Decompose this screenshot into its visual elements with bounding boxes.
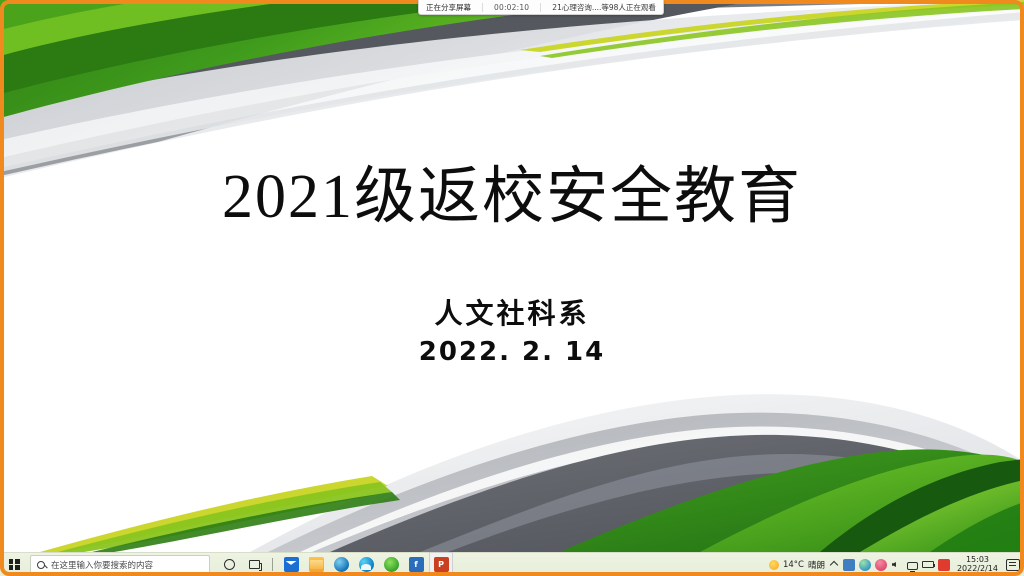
screen-share-banner[interactable]: 正在分享屏幕 00:02:10 21心理咨询....等98人正在观看	[418, 0, 664, 15]
show-hidden-icons-chevron[interactable]	[830, 560, 838, 568]
mail-icon[interactable]	[280, 553, 302, 576]
file-explorer-icon[interactable]	[305, 553, 327, 576]
slide-date: 2022. 2. 14	[419, 337, 606, 367]
powerpoint-icon[interactable]: P	[430, 553, 452, 576]
search-input[interactable]: 在这里输入你要搜索的内容	[30, 555, 210, 574]
taskbar-icon-group: f P	[218, 553, 452, 576]
slide-subtitle-block: 人文社科系 2022. 2. 14	[419, 296, 606, 367]
task-view-icon[interactable]	[243, 553, 265, 576]
clock-date: 2022/2/14	[957, 565, 998, 574]
system-tray: 14°C 晴朗 15:03 2022/2/14	[769, 553, 1024, 576]
network-status-icon[interactable]	[907, 562, 918, 570]
cortana-icon[interactable]	[218, 553, 240, 576]
taskbar-divider	[272, 558, 273, 571]
share-viewers-label: 21心理咨询....等98人正在观看	[552, 2, 656, 13]
volume-icon[interactable]	[891, 559, 903, 571]
user-account-icon[interactable]	[875, 559, 887, 571]
banner-divider	[482, 3, 483, 12]
network-globe-icon[interactable]	[859, 559, 871, 571]
security-icon[interactable]	[938, 559, 950, 571]
search-placeholder-text: 在这里输入你要搜索的内容	[51, 559, 153, 571]
weather-temperature: 14°C	[783, 560, 804, 570]
share-status-label: 正在分享屏幕	[426, 2, 471, 13]
presentation-slide[interactable]: 2021级返校安全教育 人文社科系 2022. 2. 14	[0, 0, 1024, 552]
foxmail-icon[interactable]: f	[405, 553, 427, 576]
windows-logo-icon	[9, 559, 20, 570]
screen: 2021级返校安全教育 人文社科系 2022. 2. 14 正在分享屏幕 00:…	[0, 0, 1024, 576]
wechat-icon[interactable]	[380, 553, 402, 576]
banner-divider-2	[540, 3, 541, 12]
slide-text-block: 2021级返校安全教育 人文社科系 2022. 2. 14	[0, 0, 1024, 552]
ime-icon[interactable]	[843, 559, 855, 571]
battery-icon[interactable]	[922, 561, 934, 568]
search-icon	[37, 561, 45, 569]
windows-taskbar: 在这里输入你要搜索的内容	[0, 552, 1024, 576]
clock[interactable]: 15:03 2022/2/14	[957, 556, 998, 573]
edge-icon[interactable]	[355, 553, 377, 576]
weather-description: 晴朗	[808, 559, 825, 571]
start-button[interactable]	[0, 553, 28, 576]
browser-globe-icon[interactable]	[330, 553, 352, 576]
share-timer: 00:02:10	[494, 3, 529, 12]
slide-subtitle: 人文社科系	[419, 296, 606, 331]
weather-sun-icon	[769, 560, 779, 570]
slide-title: 2021级返校安全教育	[222, 163, 802, 232]
notification-center-icon[interactable]	[1006, 559, 1020, 571]
